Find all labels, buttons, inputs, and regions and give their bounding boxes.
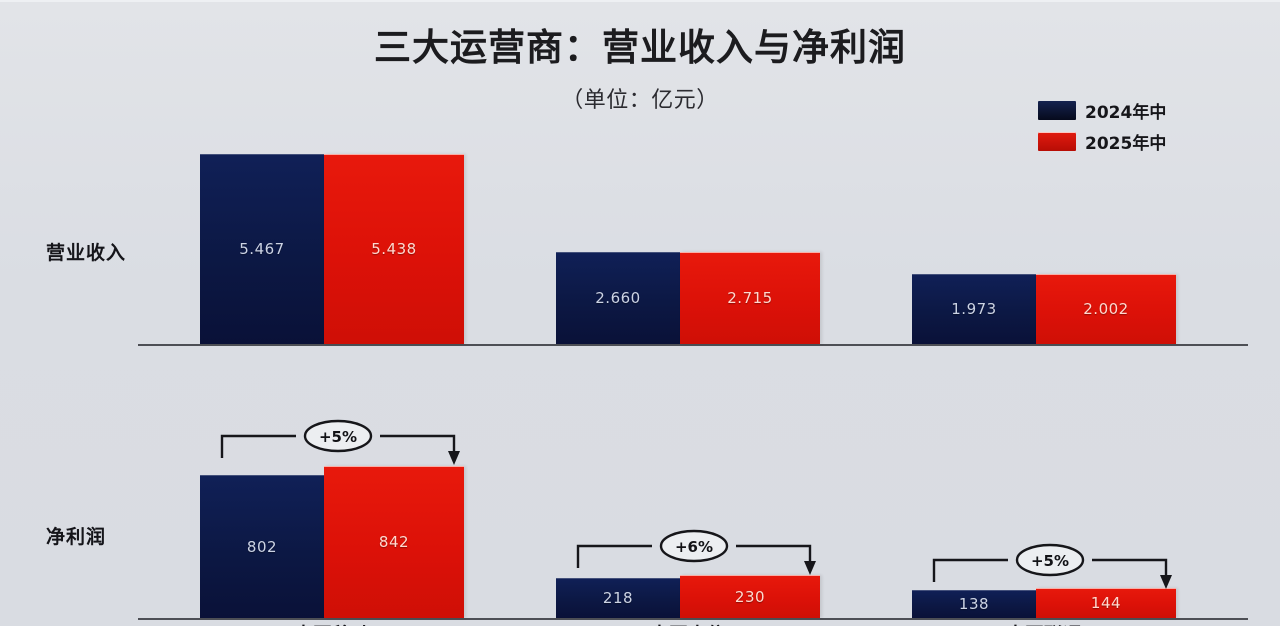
bar-revenue-unicom-2024[interactable]: 1.973	[912, 274, 1036, 344]
growth-bracket-right-2	[736, 546, 810, 562]
growth-badge-label-1: +5%	[319, 428, 357, 446]
row-label-profit: 净利润	[46, 522, 106, 549]
growth-badge-3	[1017, 545, 1083, 575]
top-hairline	[0, 0, 1280, 2]
bar-label-profit-mobile-2024: 802	[247, 538, 277, 556]
bar-profit-mobile-2024[interactable]: 802	[200, 475, 324, 618]
bar-label-profit-unicom-2024: 138	[959, 595, 989, 613]
growth-badge-1	[305, 421, 371, 451]
legend-item-2024[interactable]: 2024年中	[1038, 98, 1166, 123]
legend-label-2024: 2024年中	[1085, 98, 1166, 123]
bar-group-profit-2: 218 230	[556, 575, 820, 618]
panel-operating-revenue: 5.467 5.438 2.660 2.715 1.973 2.002	[138, 140, 1248, 346]
bar-label-profit-unicom-2025: 144	[1091, 594, 1121, 612]
bar-label-revenue-telecom-2025: 2.715	[727, 289, 772, 307]
growth-bracket-left-3	[934, 560, 1008, 582]
growth-badge-label-2: +6%	[675, 538, 713, 556]
bar-revenue-telecom-2025[interactable]: 2.715	[680, 252, 820, 344]
bar-group-revenue-2: 2.660 2.715	[556, 252, 820, 344]
bar-label-profit-mobile-2025: 842	[379, 533, 409, 551]
bar-label-revenue-unicom-2025: 2.002	[1083, 300, 1128, 318]
growth-bracket-left-1	[222, 436, 296, 458]
bar-label-revenue-telecom-2024: 2.660	[595, 289, 640, 307]
growth-arrowhead-3	[1160, 575, 1172, 589]
bar-profit-telecom-2025[interactable]: 230	[680, 575, 820, 618]
growth-annotation-1: +5%	[218, 422, 458, 472]
bar-profit-unicom-2025[interactable]: 144	[1036, 588, 1176, 618]
growth-arrowhead-1	[448, 451, 460, 465]
bar-profit-mobile-2025[interactable]: 842	[324, 466, 464, 618]
page-title: 三大运营商：营业收入与净利润	[0, 26, 1280, 70]
bar-profit-unicom-2024[interactable]: 138	[912, 590, 1036, 618]
bar-group-profit-3: 138 144	[912, 588, 1176, 618]
bar-label-profit-telecom-2024: 218	[603, 589, 633, 607]
legend-swatch-2024	[1038, 101, 1076, 120]
bar-revenue-mobile-2024[interactable]: 5.467	[200, 154, 324, 344]
category-label-2: 中国电信	[650, 620, 726, 626]
growth-arrowhead-2	[804, 561, 816, 575]
bar-label-revenue-mobile-2024: 5.467	[239, 240, 284, 258]
bar-label-profit-telecom-2025: 230	[735, 588, 765, 606]
category-label-1: 中国移动	[294, 620, 370, 626]
growth-badge-2	[661, 531, 727, 561]
growth-bracket-left-2	[578, 546, 652, 568]
bar-label-revenue-unicom-2024: 1.973	[951, 300, 996, 318]
slide-canvas: 三大运营商：营业收入与净利润 （单位：亿元） 2024年中 2025年中 营业收…	[0, 0, 1280, 626]
growth-bracket-right-1	[380, 436, 454, 452]
axis-line-revenue	[138, 344, 1248, 346]
bar-group-profit-1: 802 842	[200, 466, 464, 618]
bar-revenue-unicom-2025[interactable]: 2.002	[1036, 274, 1176, 344]
category-label-3: 中国联通	[1006, 620, 1082, 626]
bar-revenue-mobile-2025[interactable]: 5.438	[324, 154, 464, 344]
bar-group-revenue-3: 1.973 2.002	[912, 274, 1176, 344]
panel-net-profit: 802 842 +5% 218 230	[138, 424, 1248, 620]
bar-revenue-telecom-2024[interactable]: 2.660	[556, 252, 680, 344]
row-label-revenue: 营业收入	[46, 238, 126, 265]
growth-bracket-right-3	[1092, 560, 1166, 576]
bar-group-revenue-1: 5.467 5.438	[200, 154, 464, 344]
growth-badge-label-3: +5%	[1031, 552, 1069, 570]
bar-label-revenue-mobile-2025: 5.438	[371, 240, 416, 258]
bar-profit-telecom-2024[interactable]: 218	[556, 578, 680, 618]
